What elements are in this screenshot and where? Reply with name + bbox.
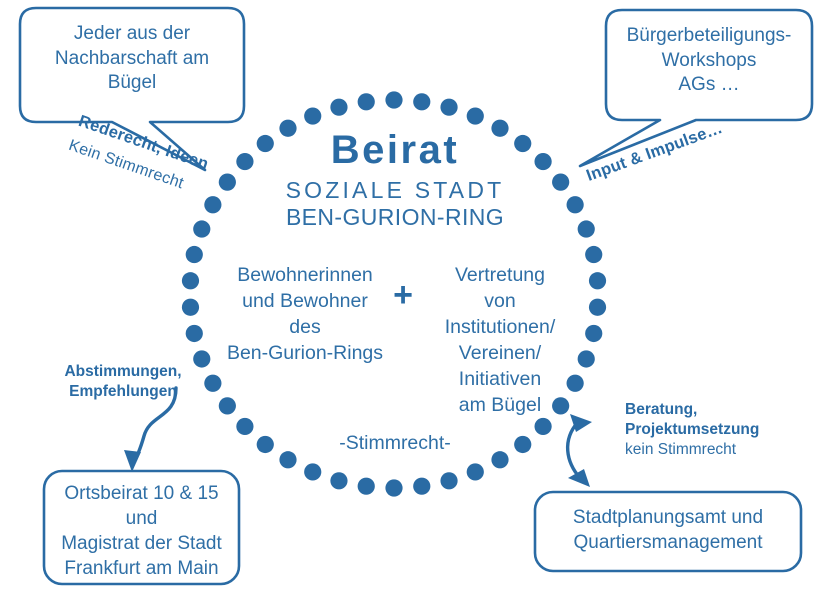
ring-dot bbox=[257, 436, 274, 453]
ring-dot bbox=[204, 375, 221, 392]
ring-dot bbox=[578, 220, 595, 237]
ring-dot bbox=[236, 418, 253, 435]
ring-dot bbox=[440, 99, 457, 116]
caption-beratung-line-1: Beratung, bbox=[625, 400, 815, 420]
center-right-line-2: von bbox=[424, 289, 576, 315]
ring-dot bbox=[330, 99, 347, 116]
center-right-line-4: Vereinen/ bbox=[424, 341, 576, 367]
bubble-top-left-text: Jeder aus der Nachbarschaft am Bügel bbox=[24, 22, 240, 96]
center-footer-stimmrecht: -Stimmrecht- bbox=[300, 432, 490, 456]
plus-connector: + bbox=[390, 275, 416, 316]
ring-dot bbox=[358, 478, 375, 495]
bubble-top-right-line-2: Workshops bbox=[608, 49, 810, 74]
caption-abstimmungen-line-1: Abstimmungen, bbox=[48, 362, 198, 382]
ring-dot bbox=[567, 196, 584, 213]
box-bottom-left-line-4: Frankfurt am Main bbox=[46, 556, 237, 581]
ring-dot bbox=[186, 246, 203, 263]
caption-beratung-projektumsetzung: Beratung, Projektumsetzung kein Stimmrec… bbox=[625, 400, 815, 459]
center-right-line-5: Initiativen bbox=[424, 367, 576, 393]
ring-dot bbox=[204, 196, 221, 213]
box-bottom-left-line-1: Ortsbeirat 10 & 15 bbox=[46, 481, 237, 506]
center-left-line-1: Bewohnerinnen bbox=[215, 263, 395, 289]
ring-dot bbox=[219, 174, 236, 191]
ring-dot bbox=[182, 272, 199, 289]
ring-dot bbox=[589, 272, 606, 289]
ring-dot bbox=[413, 93, 430, 110]
double-headed-curved-arrow-icon bbox=[568, 414, 592, 487]
box-bottom-left-text: Ortsbeirat 10 & 15 und Magistrat der Sta… bbox=[46, 481, 237, 581]
ring-dot bbox=[385, 479, 402, 496]
ring-dot bbox=[385, 91, 402, 108]
ring-dot bbox=[585, 246, 602, 263]
center-left-column: Bewohnerinnen und Bewohner des Ben-Gurio… bbox=[215, 263, 395, 367]
center-left-line-4: Ben-Gurion-Rings bbox=[215, 341, 395, 367]
page-subtitle-2: BEN-GURION-RING bbox=[264, 203, 526, 231]
page-title: Beirat bbox=[264, 126, 526, 175]
ring-dot bbox=[186, 325, 203, 342]
bubble-top-left-line-3: Bügel bbox=[24, 71, 240, 96]
caption-kein-stimmrecht-right: kein Stimmrecht bbox=[625, 440, 815, 460]
caption-abstimmungen-empfehlungen: Abstimmungen, Empfehlungen bbox=[48, 362, 198, 402]
ring-dot bbox=[182, 299, 199, 316]
center-right-column: Vertretung von Institutionen/ Vereinen/ … bbox=[424, 263, 576, 419]
caption-abstimmungen-line-2: Empfehlungen bbox=[48, 382, 198, 402]
box-bottom-left-line-2: und bbox=[46, 506, 237, 531]
ring-dot bbox=[413, 478, 430, 495]
bubble-top-right-line-3: AGs … bbox=[608, 73, 810, 98]
box-bottom-right-line-1: Stadtplanungsamt und bbox=[537, 505, 799, 530]
bubble-top-right-text: Bürgerbeteiligungs- Workshops AGs … bbox=[608, 24, 810, 98]
center-left-line-2: und Bewohner bbox=[215, 289, 395, 315]
center-right-line-6: am Bügel bbox=[424, 393, 576, 419]
ring-dot bbox=[491, 451, 508, 468]
page-subtitle: SOZIALE STADT bbox=[264, 176, 526, 204]
box-bottom-left-line-3: Magistrat der Stadt bbox=[46, 531, 237, 556]
ring-dot bbox=[330, 472, 347, 489]
center-right-line-3: Institutionen/ bbox=[424, 315, 576, 341]
ring-dot bbox=[304, 463, 321, 480]
ring-dot bbox=[193, 220, 210, 237]
ring-dot bbox=[467, 107, 484, 124]
ring-dot bbox=[578, 350, 595, 367]
center-left-line-3: des bbox=[215, 315, 395, 341]
box-bottom-right-text: Stadtplanungsamt und Quartiersmanagement bbox=[537, 505, 799, 555]
ring-dot bbox=[585, 325, 602, 342]
ring-dot bbox=[440, 472, 457, 489]
ring-dot bbox=[534, 153, 551, 170]
ring-dot bbox=[467, 463, 484, 480]
ring-dot bbox=[219, 397, 236, 414]
ring-dot bbox=[279, 451, 296, 468]
center-right-line-1: Vertretung bbox=[424, 263, 576, 289]
ring-dot bbox=[304, 107, 321, 124]
box-bottom-right-line-2: Quartiersmanagement bbox=[537, 530, 799, 555]
ring-dot bbox=[534, 418, 551, 435]
ring-dot bbox=[236, 153, 253, 170]
bubble-top-left-line-1: Jeder aus der bbox=[24, 22, 240, 47]
ring-dot bbox=[358, 93, 375, 110]
ring-dot bbox=[514, 436, 531, 453]
ring-dot bbox=[589, 299, 606, 316]
ring-dot bbox=[552, 174, 569, 191]
bubble-top-right-line-1: Bürgerbeteiligungs- bbox=[608, 24, 810, 49]
diagram-canvas: Jeder aus der Nachbarschaft am Bügel Red… bbox=[0, 0, 820, 600]
caption-beratung-line-2: Projektumsetzung bbox=[625, 420, 815, 440]
bubble-top-left-line-2: Nachbarschaft am bbox=[24, 47, 240, 72]
